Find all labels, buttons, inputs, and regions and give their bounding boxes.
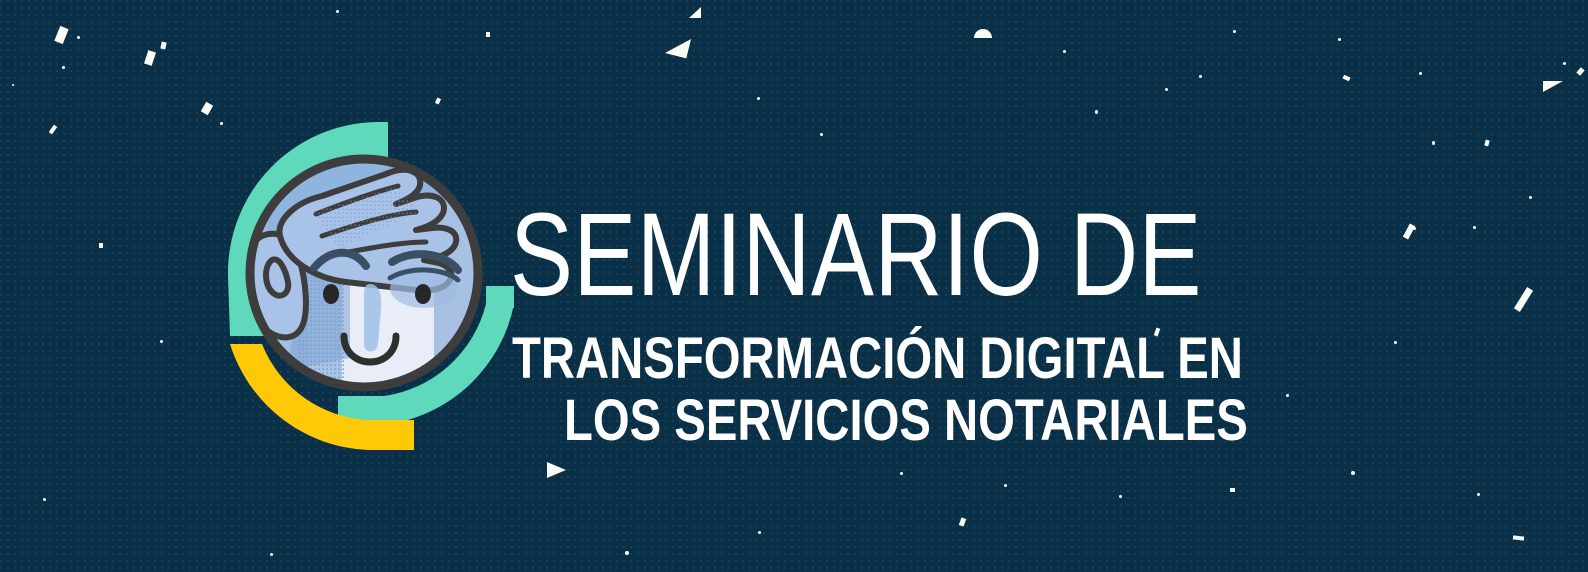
title-block: SEMINARIO DE TRANSFORMACIÓN DIGITAL EN L… xyxy=(0,0,1588,572)
title-line-3: LOS SERVICIOS NOTARIALES xyxy=(564,392,1248,450)
title-line-1: SEMINARIO DE xyxy=(510,196,1202,314)
seminar-banner: SEMINARIO DE TRANSFORMACIÓN DIGITAL EN L… xyxy=(0,0,1588,572)
title-line-2: TRANSFORMACIÓN DIGITAL EN xyxy=(512,330,1243,388)
